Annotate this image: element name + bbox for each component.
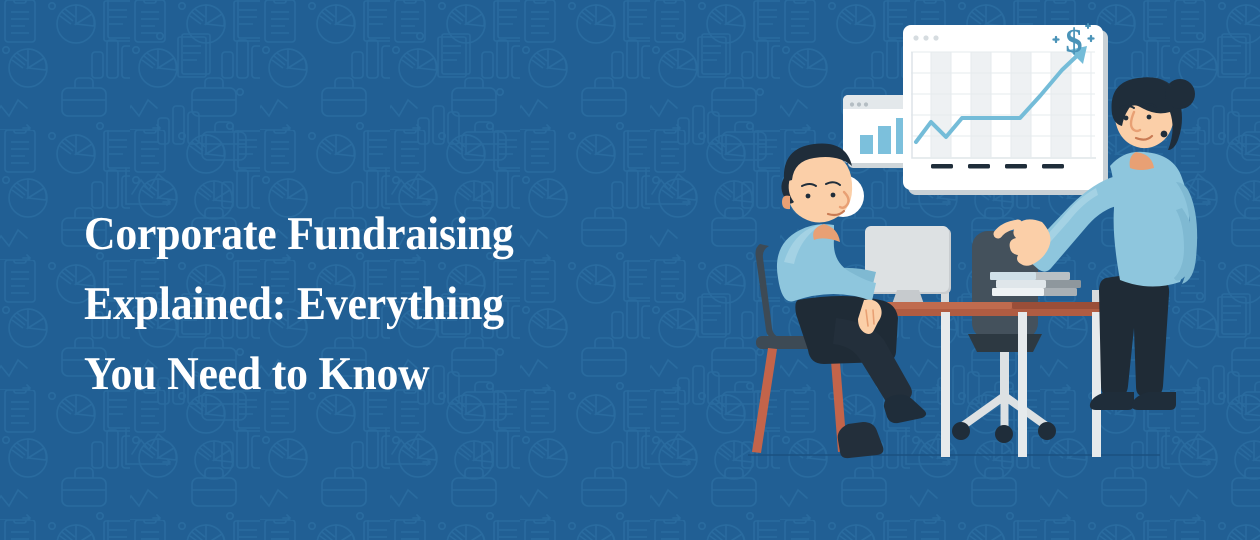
window-dot <box>864 102 868 106</box>
woman-hair-bun <box>1165 79 1195 109</box>
chair-caster <box>995 425 1013 443</box>
banner-root: Corporate Fundraising Explained: Everyth… <box>0 0 1260 540</box>
man-shoe <box>884 395 926 424</box>
woman-sweater <box>1110 152 1189 287</box>
man-shoe <box>838 422 884 458</box>
woman-trousers <box>1099 275 1169 396</box>
chair-leg <box>752 348 777 453</box>
woman-shoe <box>1132 392 1176 410</box>
panel-dot <box>913 35 918 40</box>
man-ear <box>782 196 790 210</box>
headline-line-2: Explained: Everything <box>84 269 633 339</box>
panel-dot <box>933 35 938 40</box>
svg-text:$: $ <box>1066 23 1083 60</box>
chair-caster <box>952 422 970 440</box>
panel-dot <box>923 35 928 40</box>
mini-bar <box>878 126 891 154</box>
mini-bar <box>860 135 873 154</box>
book-stack <box>990 272 1081 296</box>
window-dot <box>857 102 861 106</box>
presentation-chart-panel: $ <box>903 23 1108 195</box>
office-desk-top <box>862 302 1115 316</box>
headline-line-1: Corporate Fundraising <box>84 199 633 269</box>
chair-caster <box>1038 422 1056 440</box>
window-dot <box>850 102 854 106</box>
page-title: Corporate Fundraising Explained: Everyth… <box>84 199 633 409</box>
headline-line-3: You Need to Know <box>84 339 633 409</box>
woman-earring <box>1161 131 1168 138</box>
office-presentation-illustration: $ ? <box>740 0 1260 540</box>
